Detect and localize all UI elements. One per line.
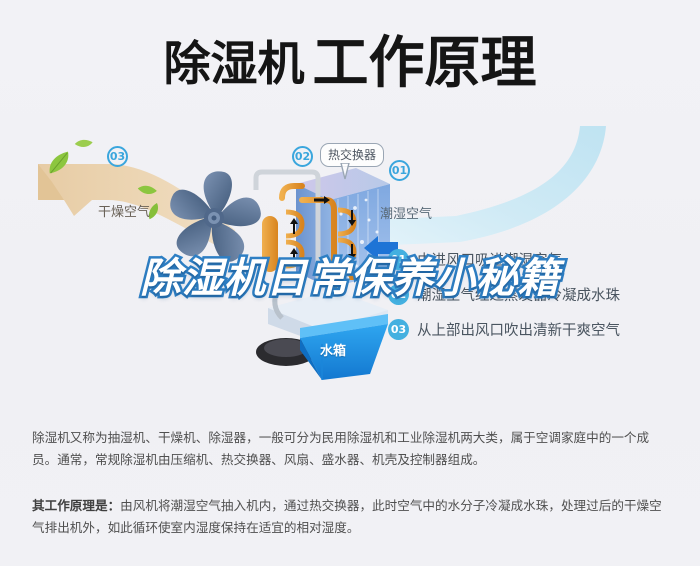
watermark-overlay-title: 除湿机日常保养小秘籍 [0,258,700,299]
list-item: 03 从上部出风口吹出清新干爽空气 [388,312,688,347]
callout-pointer-icon [339,163,351,181]
page-title-part2: 工作原理 [313,36,537,92]
step-badge-03: 03 [388,319,409,340]
page-title-part1: 除湿机 [164,41,305,88]
callout-label-heat-exchanger: 热交换器 [320,143,384,167]
body-paragraph-2: 其工作原理是：由风机将潮湿空气抽入机内，通过热交换器，此时空气中的水分子冷凝成水… [32,495,672,539]
leaf-icon [74,135,92,152]
callout-label-humid-air: 潮湿空气 [380,203,432,222]
body-paragraph-1: 除湿机又称为抽湿机、干燥机、除湿器，一般可分为民用除湿机和工业除湿机两大类，属于… [32,427,672,471]
callout-badge-03: 03 [107,146,128,167]
page-title: 除湿机 工作原理 [0,0,700,128]
callout-badge-01: 01 [389,160,410,181]
water-tank-label: 水箱 [320,340,346,359]
step-text-03: 从上部出风口吹出清新干爽空气 [417,319,620,340]
callout-label-dry-air: 干燥空气 [98,201,150,220]
body-paragraph-2-rest: 由风机将潮湿空气抽入机内，通过热交换器，此时空气中的水分子冷凝成水珠，处理过后的… [32,498,662,535]
body-paragraph-2-lead: 其工作原理是： [32,498,120,513]
callout-badge-02: 02 [292,146,313,167]
poster-root: 除湿机 工作原理 [0,0,700,566]
